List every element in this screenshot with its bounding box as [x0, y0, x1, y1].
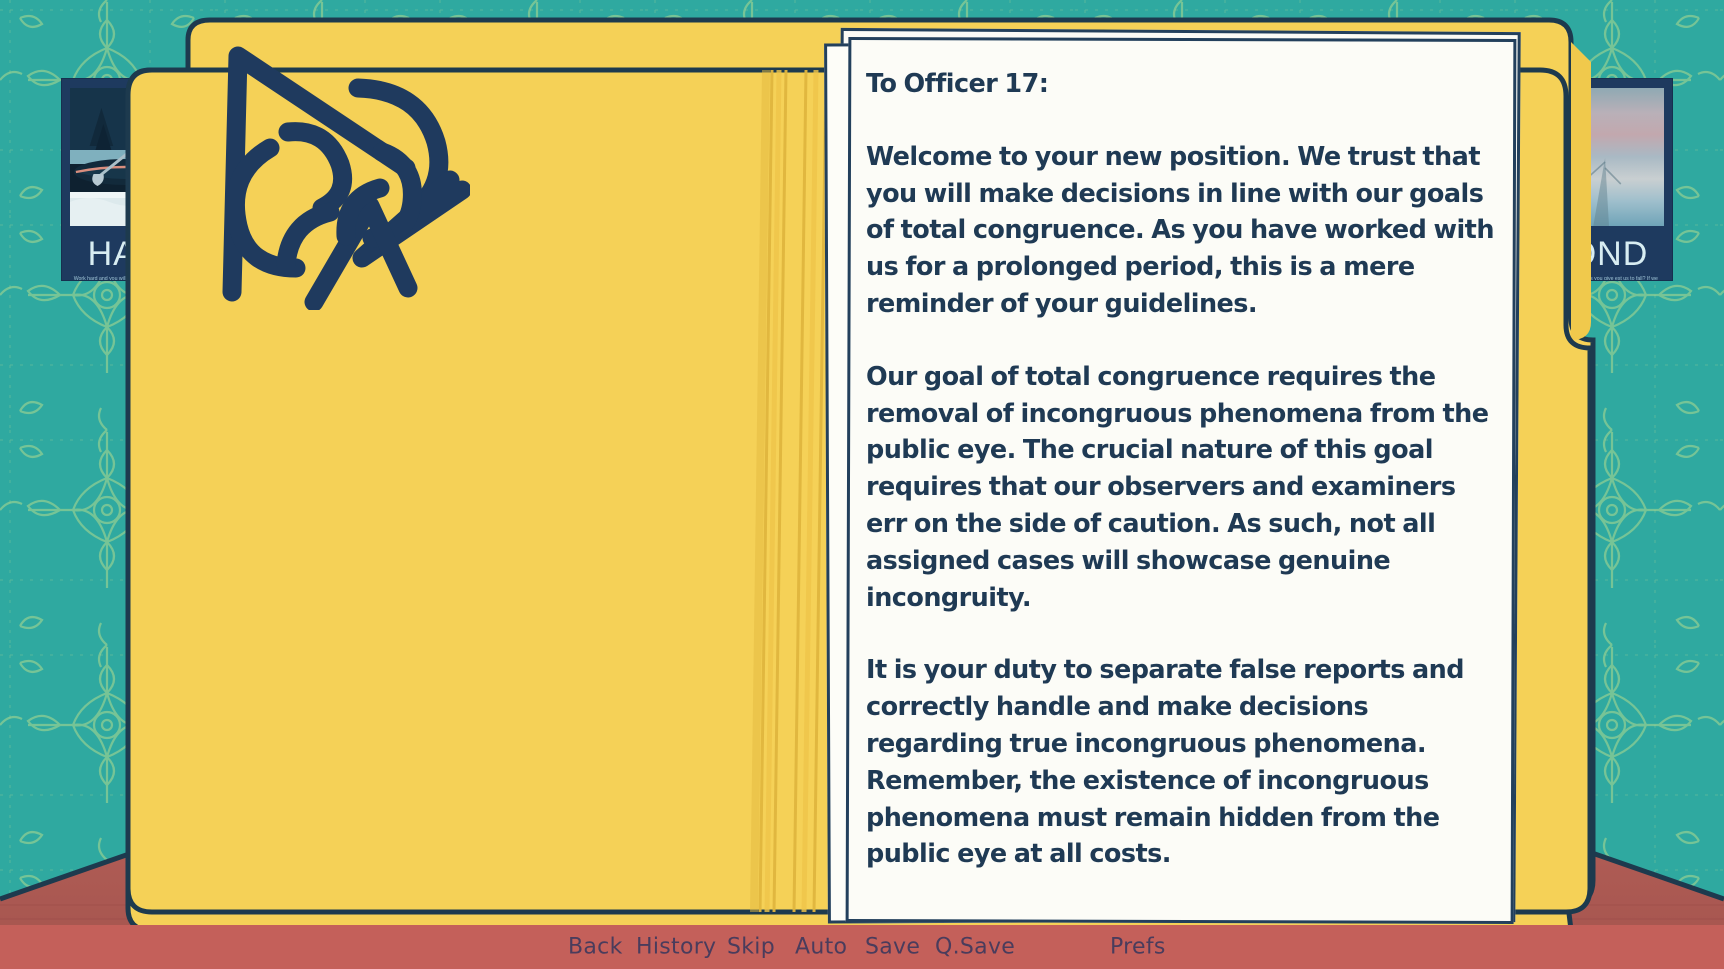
letter-salutation: To Officer 17:: [866, 66, 1498, 103]
letter-paragraph-1: Welcome to your new position. We trust t…: [866, 139, 1498, 323]
quick-menu-items: BackHistorySkipAutoSaveQ.SavePrefs: [0, 925, 1724, 969]
letter-text: To Officer 17: Welcome to your new posit…: [866, 60, 1502, 900]
quick-menu-bar: BackHistorySkipAutoSaveQ.SavePrefs: [0, 925, 1724, 969]
triskelion-knot-emblem: [210, 40, 470, 310]
menu-item-history[interactable]: History: [636, 935, 716, 960]
menu-item-skip[interactable]: Skip: [727, 935, 775, 960]
game-screen: HAR Work hard and you will be useful and…: [0, 0, 1724, 969]
menu-item-save[interactable]: Save: [865, 935, 920, 960]
menu-item-back[interactable]: Back: [568, 935, 623, 960]
menu-item-q-save[interactable]: Q.Save: [935, 935, 1015, 960]
letter-paragraph-3: It is your duty to separate false report…: [866, 652, 1498, 873]
letter-paragraph-2: Our goal of total congruence requires th…: [866, 359, 1498, 617]
menu-item-auto[interactable]: Auto: [795, 935, 847, 960]
menu-item-prefs[interactable]: Prefs: [1110, 935, 1166, 960]
